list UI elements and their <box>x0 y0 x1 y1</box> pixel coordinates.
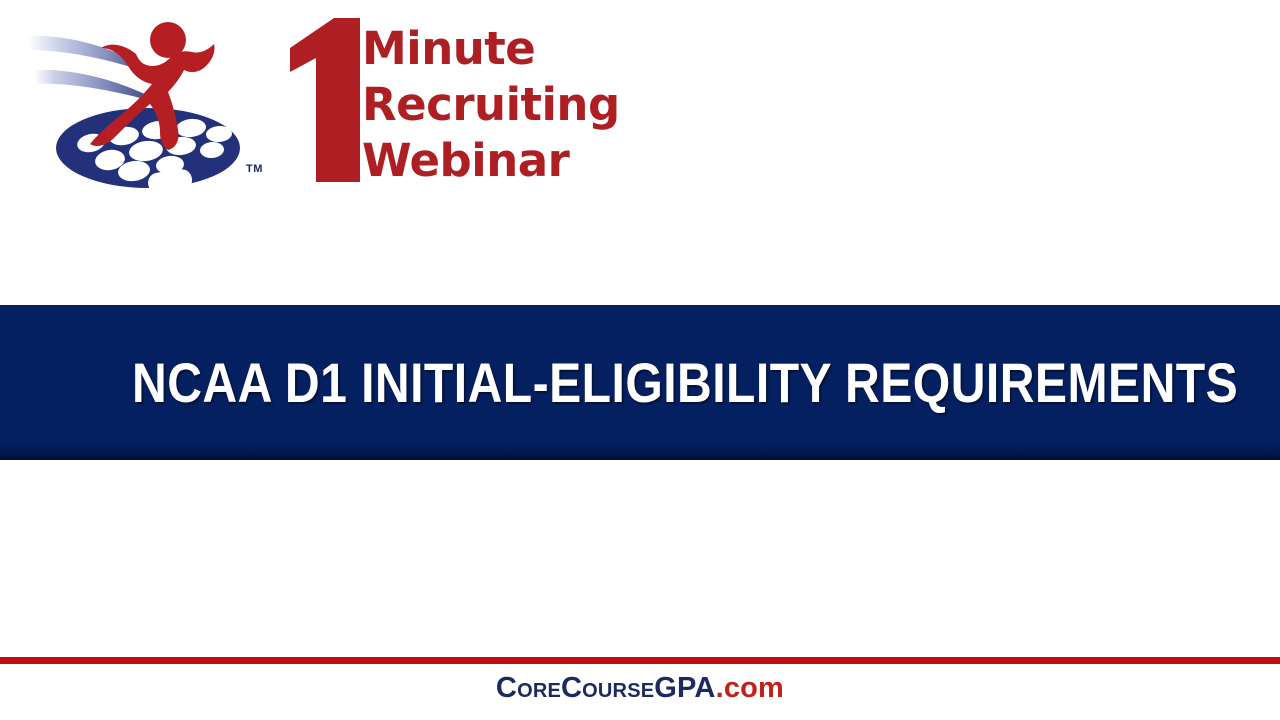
trademark-symbol: TM <box>246 163 263 175</box>
logo-numeral-one <box>276 14 371 186</box>
page-title: NCAA D1 INITIAL-ELIGIBILITY REQUIREMENTS <box>132 355 1238 411</box>
footer-brand: CoreCourseGPA.com <box>496 672 784 705</box>
logo-line-recruiting: Recruiting <box>362 82 620 127</box>
logo-text-lines: Minute Recruiting Webinar <box>362 14 624 186</box>
footer-divider <box>0 657 1280 664</box>
footer: CoreCourseGPA.com <box>0 672 1280 705</box>
footer-brand-tld: .com <box>716 672 785 704</box>
logo-line-minute: Minute <box>362 26 535 71</box>
logo-line-webinar: Webinar <box>362 138 569 183</box>
footer-brand-name: CoreCourseGPA <box>496 672 716 704</box>
brand-logo: Minute Recruiting Webinar TM <box>18 8 618 188</box>
title-banner: NCAA D1 INITIAL-ELIGIBILITY REQUIREMENTS <box>0 305 1280 460</box>
logo-wordmark: Minute Recruiting Webinar <box>276 14 621 186</box>
running-figure-on-stepping-stones-icon <box>18 8 278 188</box>
slide-canvas: Minute Recruiting Webinar TM NCAA D1 INI… <box>0 0 1280 720</box>
